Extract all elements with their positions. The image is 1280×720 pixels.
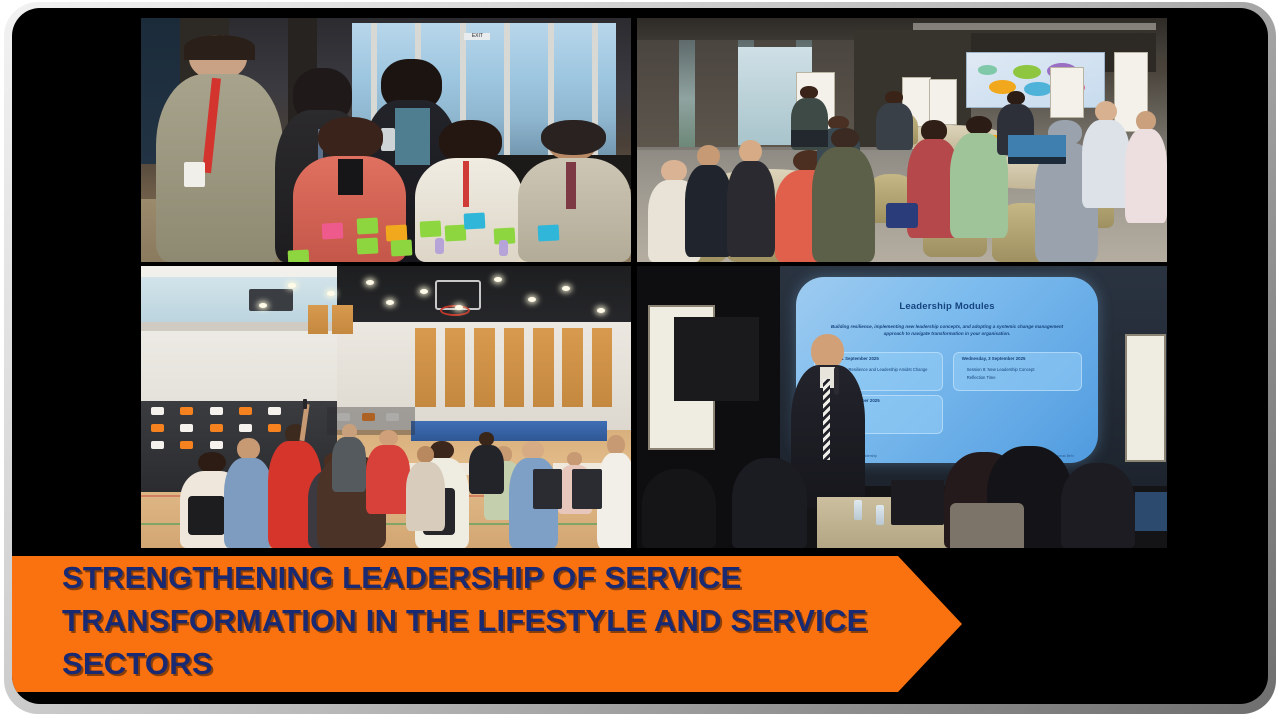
slide-card-bullet: Session 8: New Leadership Concept <box>967 367 1035 372</box>
photo-workshop-table-scene: EXIT <box>141 18 631 262</box>
photo-workshop-table: EXIT <box>141 18 631 262</box>
slide-card-bullet: Reflection Time <box>967 375 996 380</box>
exit-sign: EXIT <box>464 33 490 40</box>
photo-ballroom-plenary <box>637 18 1167 262</box>
photo-presenter-slide: Leadership Modules Building resilience, … <box>637 266 1167 548</box>
photo-sports-hall-scene <box>141 266 631 548</box>
projector-screen <box>966 52 1106 108</box>
slide-title: Leadership Modules <box>796 301 1098 312</box>
page-title: STRENGTHENING LEADERSHIP OF SERVICE TRAN… <box>62 556 942 685</box>
photo-collage-grid: EXIT <box>141 10 1167 542</box>
photo-sports-hall-tour <box>141 266 631 548</box>
photo-presenter-scene: Leadership Modules Building resilience, … <box>637 266 1167 548</box>
photo-ballroom-plenary-scene <box>637 18 1167 262</box>
slide-page: EXIT <box>0 0 1280 720</box>
slide-card-heading: Wednesday, 3 September 2025 <box>962 356 1026 361</box>
slide-card-wednesday: Wednesday, 3 September 2025 Session 8: N… <box>953 352 1082 391</box>
